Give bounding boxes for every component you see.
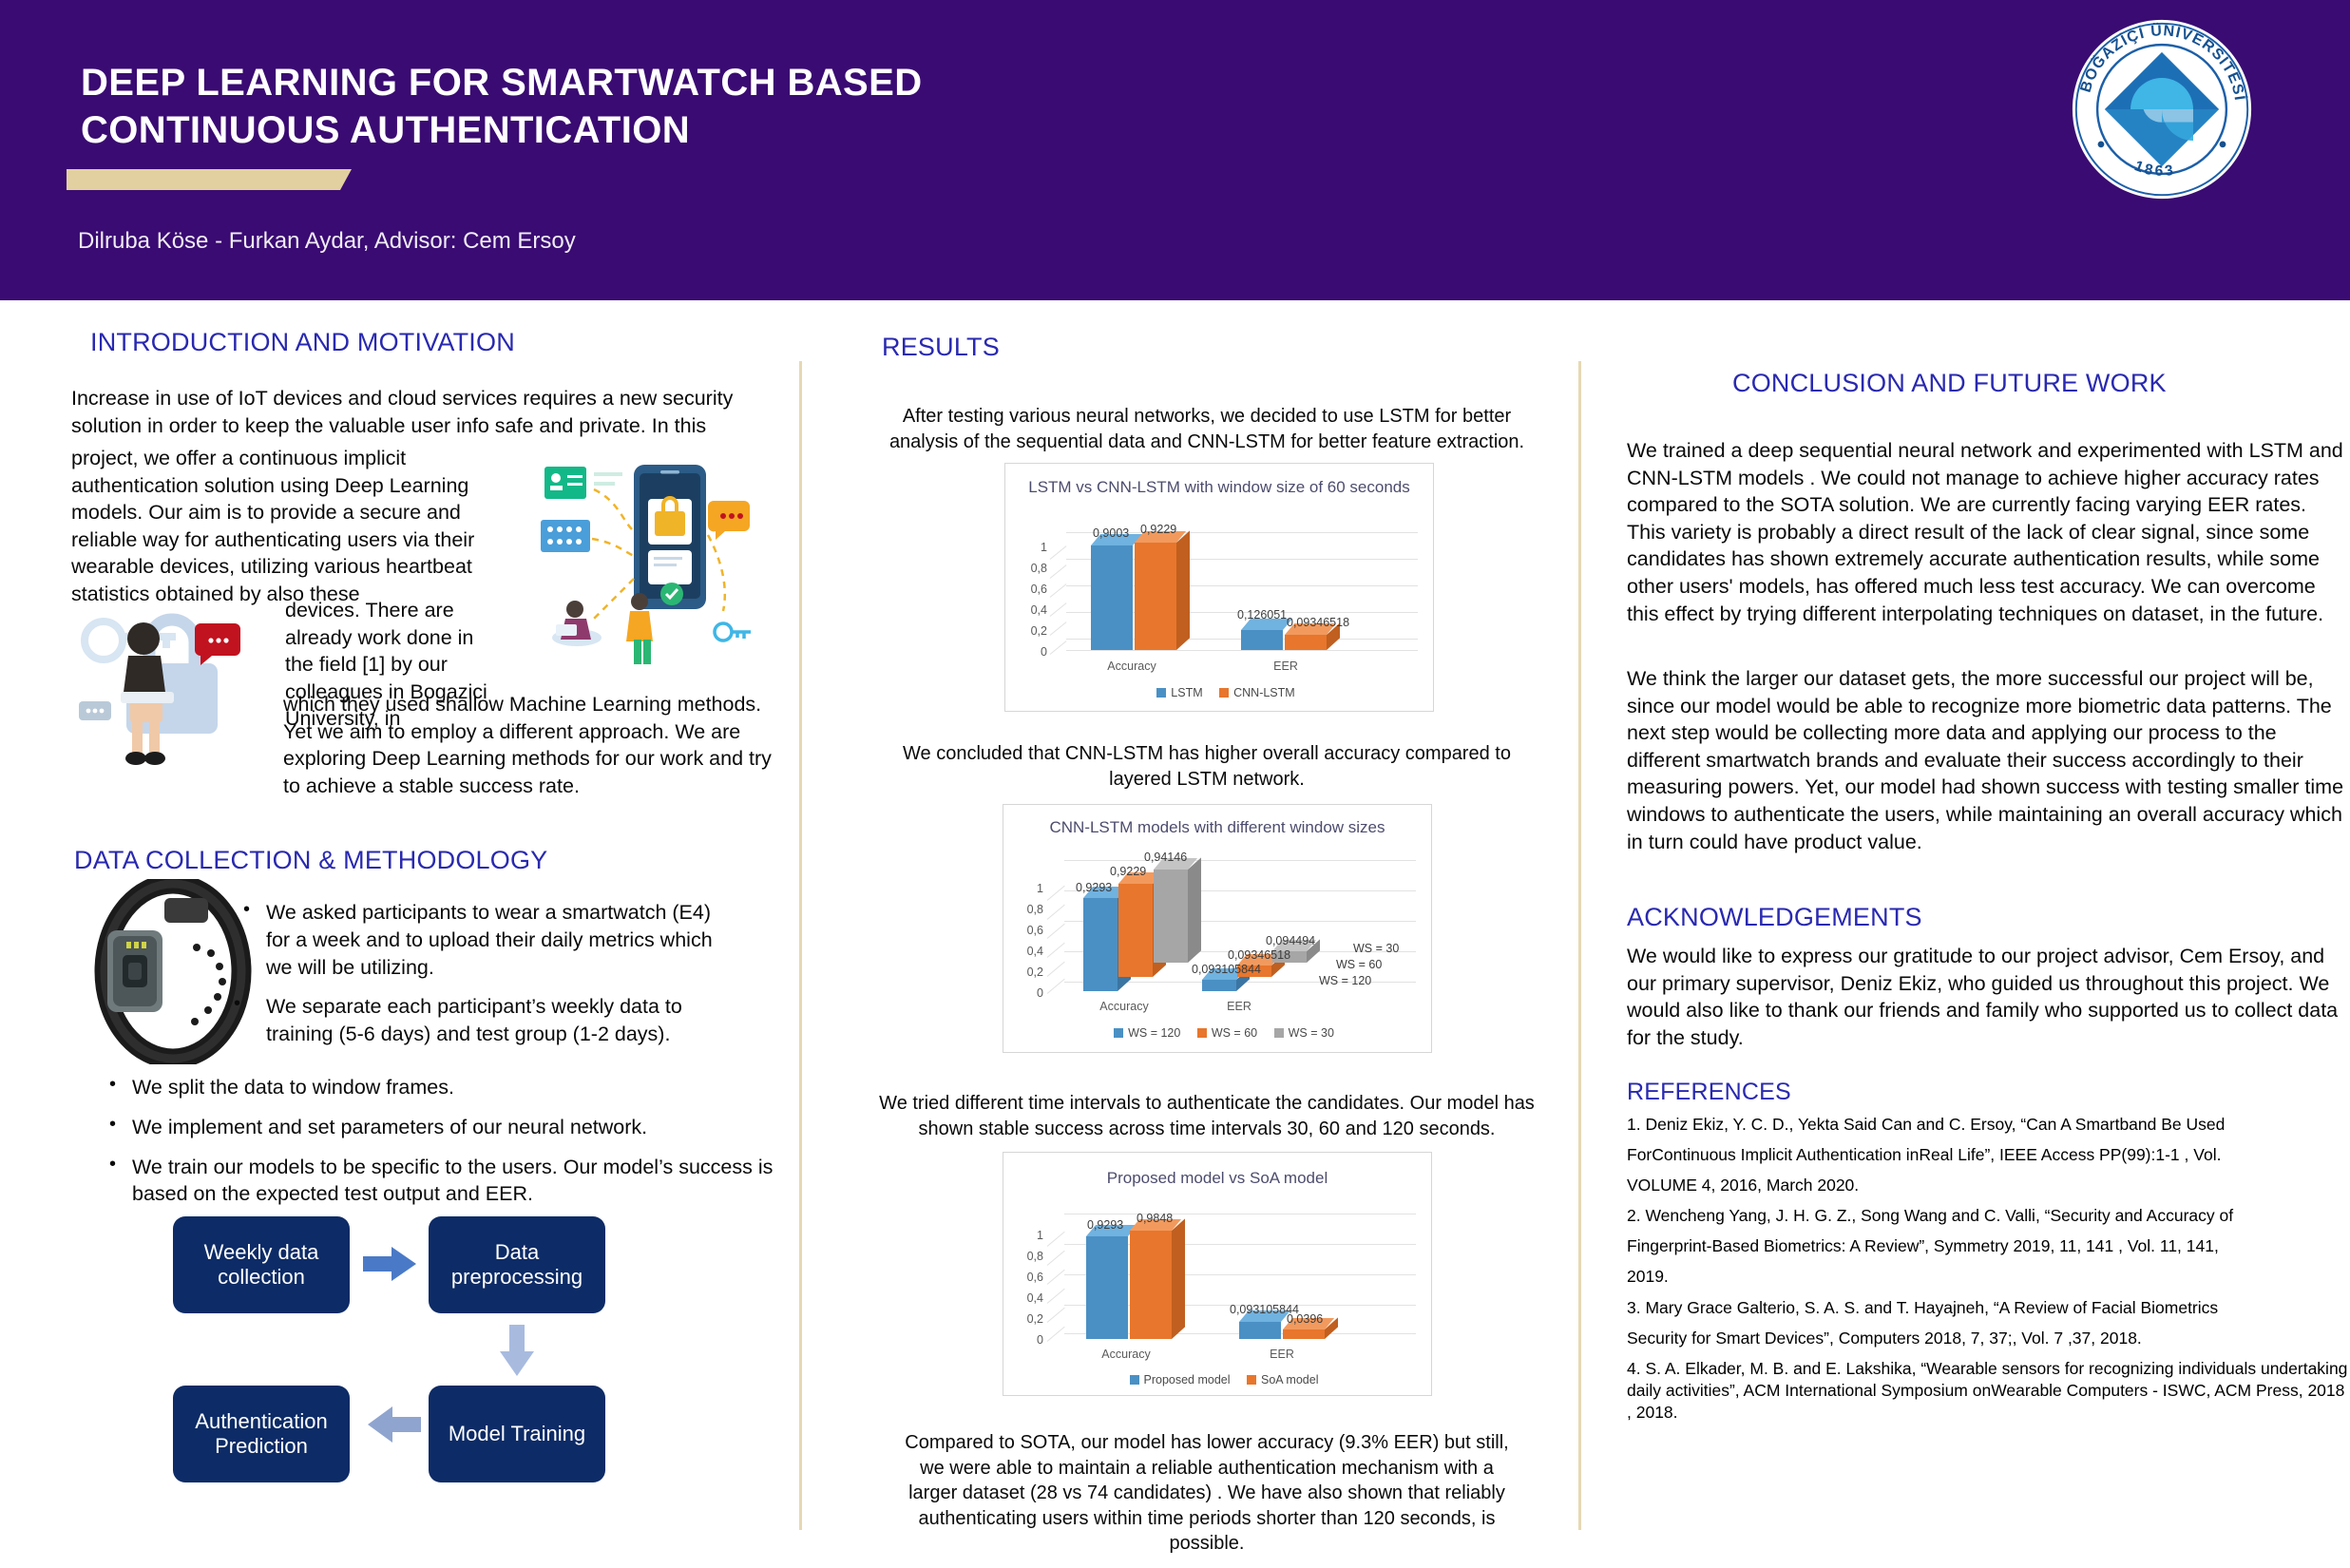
bar-accuracy-proposed (1086, 1236, 1128, 1339)
arrow-down-icon (500, 1325, 534, 1376)
bogazici-university-logo-icon: BOĞAZİÇİ ÜNİVERSİTESİ 1863 (2070, 17, 2254, 201)
section-heading-references: REFERENCES (1627, 1079, 1791, 1106)
title-accent-bar (67, 169, 352, 190)
smartwatch-photo (90, 879, 257, 1064)
chart-cnnlstm-window-sizes: CNN-LSTM models with different window si… (1003, 804, 1432, 1053)
chart-3-ytick-2: 0,4 (1017, 1291, 1043, 1305)
page-title-line1: DEEP LEARNING FOR SMARTWATCH BASED (81, 62, 922, 104)
list-item: Security for Smart Devices”, Computers 2… (1627, 1328, 2349, 1349)
list-item: ForContinuous Implicit Authentication in… (1627, 1144, 2349, 1166)
chart-3-category-accuracy: Accuracy (1074, 1348, 1178, 1361)
list-item: 2019. (1627, 1266, 2349, 1288)
column-divider-left (799, 361, 802, 1530)
chart-lstm-vs-cnnlstm: LSTM vs CNN-LSTM with window size of 60 … (1004, 463, 1434, 712)
bar-label-accuracy-ws30: 0,94146 (1144, 851, 1187, 864)
bar-eer-ws120 (1202, 980, 1236, 991)
conclusion-paragraph-2: We think the larger our dataset gets, th… (1627, 665, 2349, 855)
chart-1-ytick-0: 0 (1021, 645, 1047, 659)
conclusion-paragraph-1: We trained a deep sequential neural netw… (1627, 437, 2349, 627)
legend-label-ws120: WS = 120 (1128, 1026, 1180, 1040)
section-heading-results: RESULTS (882, 333, 1000, 362)
bar-label-accuracy-soa: 0,9848 (1137, 1212, 1173, 1225)
legend-label-lstm: LSTM (1171, 686, 1202, 699)
legend-swatch-cnnlstm (1219, 688, 1229, 698)
legend-swatch-soa (1247, 1375, 1256, 1385)
list-item: 3. Mary Grace Galterio, S. A. S. and T. … (1627, 1297, 2349, 1319)
bar-label-accuracy-cnnlstm: 0,9229 (1140, 523, 1176, 536)
bar-accuracy-ws120 (1083, 898, 1118, 991)
section-heading-conclusion: CONCLUSION AND FUTURE WORK (1732, 369, 2167, 398)
legend-label-soa: SoA model (1261, 1373, 1318, 1386)
bar-label-accuracy-ws60: 0,9229 (1110, 865, 1146, 878)
list-item: 1. Deniz Ekiz, Y. C. D., Yekta Said Can … (1627, 1114, 2349, 1136)
chart-3-category-eer: EER (1230, 1348, 1334, 1361)
poster-header: DEEP LEARNING FOR SMARTWATCH BASED CONTI… (0, 0, 2350, 300)
arrow-left-icon (368, 1406, 421, 1443)
results-caption-1: After testing various neural networks, w… (874, 404, 1539, 454)
flow-box-authentication-prediction: Authentication Prediction (173, 1386, 350, 1482)
chart-3-ytick-4: 0,8 (1017, 1250, 1043, 1263)
methodology-bullets-bottom: We split the data to window frames. We i… (100, 1074, 774, 1220)
methodology-flowchart: Weekly data collection Data preprocessin… (173, 1216, 610, 1492)
bar-accuracy-ws60 (1118, 884, 1153, 977)
bar-label-accuracy-ws120: 0,9293 (1076, 881, 1112, 894)
section-heading-introduction: INTRODUCTION AND MOTIVATION (90, 328, 515, 357)
references-list: 1. Deniz Ekiz, Y. C. D., Yekta Said Can … (1627, 1114, 2349, 1432)
bar-label-eer-ws120: 0,093105844 (1192, 963, 1261, 976)
results-caption-4: Compared to SOTA, our model has lower ac… (893, 1430, 1520, 1557)
list-item: We train our models to be specific to th… (100, 1154, 774, 1209)
chart-1-ytick-4: 0,8 (1021, 562, 1047, 575)
chart-2-category-eer: EER (1187, 1000, 1291, 1013)
legend-swatch-ws120 (1114, 1028, 1123, 1038)
list-item: We implement and set parameters of our n… (100, 1114, 774, 1141)
arrow-right-icon (363, 1247, 416, 1281)
legend-swatch-ws30 (1274, 1028, 1284, 1038)
intro-paragraph-1: Increase in use of IoT devices and cloud… (71, 385, 774, 439)
list-item: VOLUME 4, 2016, March 2020. (1627, 1175, 2349, 1196)
bar-eer-lstm (1241, 630, 1283, 650)
bar-eer-soa (1283, 1329, 1325, 1339)
data-security-illustration (71, 589, 261, 770)
chart-1-ytick-1: 0,2 (1021, 624, 1047, 638)
chart-2-ytick-1: 0,2 (1017, 966, 1043, 979)
results-caption-2: We concluded that CNN-LSTM has higher ov… (874, 741, 1539, 792)
bar-eer-proposed (1239, 1322, 1281, 1339)
legend-swatch-ws60 (1197, 1028, 1207, 1038)
methodology-bullets-top: We asked participants to wear a smartwat… (234, 899, 728, 1061)
chart-2-ytick-3: 0,6 (1017, 924, 1043, 937)
chart-3-ytick-1: 0,2 (1017, 1312, 1043, 1326)
list-item: 4. S. A. Elkader, M. B. and E. Lakshika,… (1627, 1358, 2349, 1424)
flow-box-data-preprocessing: Data preprocessing (429, 1216, 605, 1313)
chart-2-ytick-5: 1 (1017, 882, 1043, 895)
flow-box-weekly-data-collection: Weekly data collection (173, 1216, 350, 1313)
list-item: Fingerprint-Based Biometrics: A Review”,… (1627, 1235, 2349, 1257)
list-item: We split the data to window frames. (100, 1074, 774, 1101)
chart-1-category-accuracy: Accuracy (1079, 660, 1184, 673)
depth-label-ws120: WS = 120 (1319, 974, 1371, 987)
chart-1-ytick-5: 1 (1021, 541, 1047, 554)
chart-1-title: LSTM vs CNN-LSTM with window size of 60 … (1005, 477, 1433, 497)
chart-1-legend: LSTM CNN-LSTM (1005, 686, 1433, 699)
bar-label-accuracy-proposed: 0,9293 (1087, 1218, 1123, 1232)
legend-swatch-lstm (1156, 688, 1166, 698)
list-item: We asked participants to wear a smartwat… (234, 899, 728, 981)
legend-swatch-proposed (1130, 1375, 1139, 1385)
column-divider-right (1578, 361, 1581, 1530)
bar-accuracy-ws30 (1154, 870, 1188, 963)
flow-box-model-training: Model Training (429, 1386, 605, 1482)
list-item: We separate each participant’s weekly da… (234, 993, 728, 1048)
section-heading-acknowledgements: ACKNOWLEDGEMENTS (1627, 903, 1922, 932)
chart-3-ytick-5: 1 (1017, 1229, 1043, 1242)
intro-paragraph-2: project, we offer a continuous implicit … (71, 445, 508, 608)
bar-label-accuracy-lstm: 0,9003 (1093, 526, 1129, 540)
bar-accuracy-soa (1130, 1231, 1172, 1339)
chart-3-ytick-0: 0 (1017, 1333, 1043, 1347)
chart-3-ytick-3: 0,6 (1017, 1271, 1043, 1284)
bar-label-eer-ws60: 0,09346518 (1228, 948, 1290, 962)
bar-accuracy-cnnlstm (1135, 543, 1176, 650)
chart-1-ytick-2: 0,4 (1021, 603, 1047, 617)
legend-label-proposed: Proposed model (1144, 1373, 1231, 1386)
legend-label-ws30: WS = 30 (1289, 1026, 1334, 1040)
bar-label-eer-ws30: 0,094494 (1266, 934, 1315, 947)
list-item: 2. Wencheng Yang, J. H. G. Z., Song Wang… (1627, 1205, 2349, 1227)
bar-accuracy-lstm (1091, 545, 1133, 650)
depth-label-ws30: WS = 30 (1353, 942, 1399, 955)
chart-2-category-accuracy: Accuracy (1072, 1000, 1176, 1013)
bar-label-eer-cnnlstm: 0,09346518 (1287, 616, 1349, 629)
intro-paragraph-4: which they used shallow Machine Learning… (283, 691, 777, 799)
chart-2-title: CNN-LSTM models with different window si… (1003, 817, 1431, 837)
page-title: DEEP LEARNING FOR SMARTWATCH BASED CONTI… (81, 59, 1316, 154)
bar-eer-cnnlstm (1285, 635, 1327, 650)
chart-2-legend: WS = 120 WS = 60 WS = 30 (1003, 1026, 1431, 1040)
chart-proposed-vs-soa: Proposed model vs SoA model 0 0,2 0,4 0,… (1003, 1152, 1432, 1396)
chart-3-title: Proposed model vs SoA model (1003, 1168, 1431, 1188)
chart-1-ytick-3: 0,6 (1021, 583, 1047, 596)
iot-security-illustration (527, 451, 751, 670)
acknowledgements-text: We would like to express our gratitude t… (1627, 943, 2349, 1051)
legend-label-cnnlstm: CNN-LSTM (1233, 686, 1295, 699)
chart-2-ytick-0: 0 (1017, 986, 1043, 1000)
bar-label-eer-soa: 0,0396 (1287, 1312, 1323, 1326)
results-caption-3: We tried different time intervals to aut… (874, 1091, 1539, 1141)
section-heading-methodology: DATA COLLECTION & METHODOLOGY (74, 846, 547, 875)
chart-2-ytick-2: 0,4 (1017, 945, 1043, 958)
chart-3-legend: Proposed model SoA model (1003, 1373, 1431, 1386)
author-line: Dilruba Köse - Furkan Aydar, Advisor: Ce… (78, 228, 576, 255)
chart-1-category-eer: EER (1233, 660, 1338, 673)
legend-label-ws60: WS = 60 (1212, 1026, 1257, 1040)
chart-2-ytick-4: 0,8 (1017, 903, 1043, 916)
page-title-line2: CONTINUOUS AUTHENTICATION (81, 109, 690, 151)
bar-label-eer-lstm: 0,126051 (1237, 608, 1287, 621)
depth-label-ws60: WS = 60 (1336, 958, 1382, 971)
